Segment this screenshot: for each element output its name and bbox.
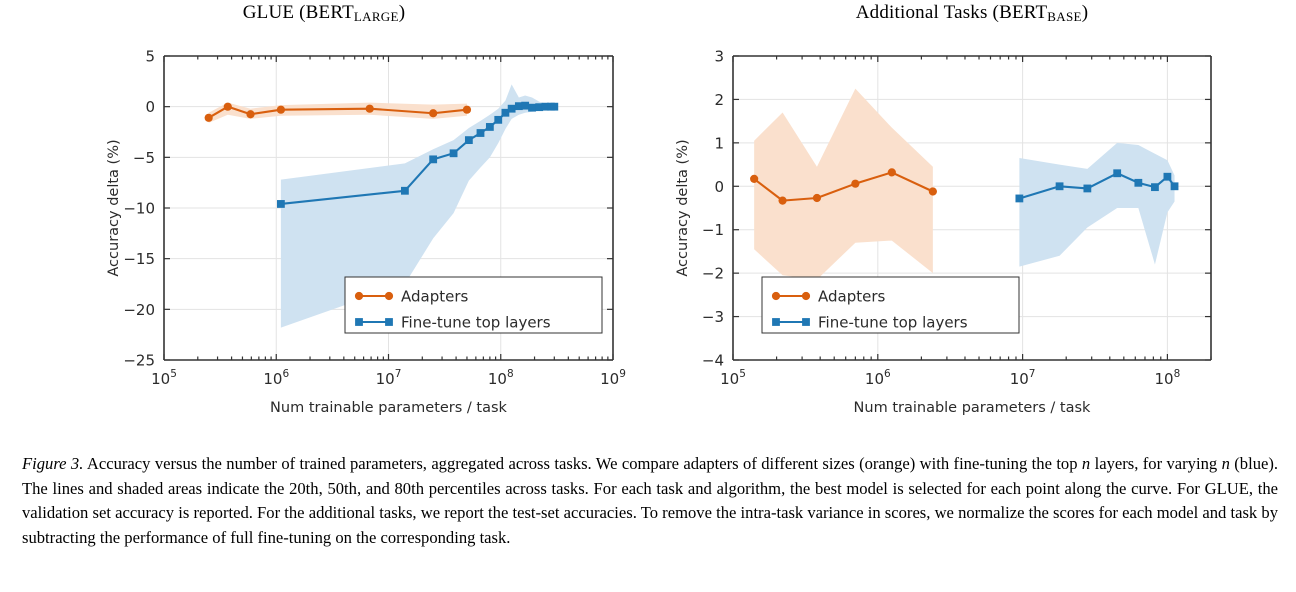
plot-area-glue: 50−5−10−15−20−25105106107108109Num train…	[0, 0, 648, 440]
x-axis-tick-label: 106	[263, 368, 289, 388]
legend-marker-square-icon	[355, 318, 363, 326]
data-point-marker	[1164, 173, 1172, 181]
legend-marker-circle-icon	[355, 292, 363, 300]
data-point-marker	[1134, 179, 1142, 187]
y-axis-tick-label: 2	[714, 91, 724, 109]
legend-marker-circle-icon	[385, 292, 393, 300]
legend-marker-square-icon	[385, 318, 393, 326]
y-axis-tick-label: −25	[123, 352, 155, 370]
y-axis-tick-label: −20	[123, 301, 155, 319]
data-point-marker	[1171, 182, 1179, 190]
chart-panel-glue: GLUE (BERTLARGE) 50−5−10−15−20−251051061…	[0, 0, 648, 440]
y-axis-tick-label: 3	[714, 48, 724, 66]
legend-label: Fine-tune top layers	[401, 314, 551, 332]
y-axis-tick-label: −4	[702, 352, 724, 370]
data-point-marker	[1015, 195, 1023, 203]
data-point-marker	[508, 105, 516, 113]
data-point-marker	[778, 197, 786, 205]
data-point-marker	[205, 114, 213, 122]
data-point-marker	[450, 149, 458, 157]
y-axis-tick-label: −3	[702, 308, 724, 326]
data-point-marker	[429, 155, 437, 163]
legend-marker-circle-icon	[802, 292, 810, 300]
data-point-marker	[277, 200, 285, 208]
figure-caption: Figure 3. Accuracy versus the number of …	[22, 452, 1278, 550]
data-point-marker	[851, 180, 859, 188]
y-axis-tick-label: 1	[714, 134, 724, 152]
data-point-marker	[1056, 182, 1064, 190]
y-axis-tick-label: −15	[123, 250, 155, 268]
y-axis-tick-label: 0	[145, 98, 155, 116]
data-point-marker	[1151, 183, 1159, 191]
legend-marker-square-icon	[772, 318, 780, 326]
legend-label: Fine-tune top layers	[818, 314, 968, 332]
y-axis-tick-label: 0	[714, 178, 724, 196]
x-axis-tick-label: 108	[1155, 368, 1181, 388]
data-point-marker	[465, 136, 473, 144]
uncertainty-band-adapters	[754, 89, 933, 280]
data-point-marker	[277, 106, 285, 114]
data-point-marker	[494, 116, 502, 124]
y-axis-title: Accuracy delta (%)	[675, 139, 691, 276]
data-point-marker	[750, 175, 758, 183]
legend-label: Adapters	[401, 288, 469, 306]
data-point-marker	[463, 106, 471, 114]
data-point-marker	[246, 110, 254, 118]
data-point-marker	[528, 104, 536, 112]
legend-marker-square-icon	[802, 318, 810, 326]
x-axis-title: Num trainable parameters / task	[270, 400, 508, 416]
data-point-marker	[550, 103, 558, 111]
y-axis-tick-label: −2	[702, 265, 724, 283]
data-point-marker	[1083, 185, 1091, 193]
data-point-marker	[929, 187, 937, 195]
plot-area-additional: 3210−1−2−3−4105106107108Num trainable pa…	[648, 0, 1296, 440]
data-point-marker	[224, 103, 232, 111]
legend-label: Adapters	[818, 288, 886, 306]
x-axis-title: Num trainable parameters / task	[854, 400, 1092, 416]
y-axis-tick-label: −1	[702, 221, 724, 239]
x-axis-tick-label: 107	[1010, 368, 1036, 388]
uncertainty-band-fine-tune-top-layers	[1019, 143, 1174, 267]
y-axis-title: Accuracy delta (%)	[106, 139, 122, 276]
data-point-marker	[521, 102, 529, 110]
figure-caption-label: Figure 3.	[22, 454, 83, 473]
data-point-marker	[401, 187, 409, 195]
y-axis-tick-label: −5	[133, 149, 155, 167]
legend-marker-circle-icon	[772, 292, 780, 300]
x-axis-tick-label: 105	[151, 368, 177, 388]
x-axis-tick-label: 106	[865, 368, 891, 388]
data-point-marker	[486, 123, 494, 131]
x-axis-tick-label: 108	[488, 368, 514, 388]
y-axis-tick-label: 5	[145, 48, 155, 66]
figure-caption-text: Accuracy versus the number of trained pa…	[22, 454, 1278, 547]
x-axis-tick-label: 105	[720, 368, 746, 388]
x-axis-tick-label: 107	[376, 368, 402, 388]
data-point-marker	[888, 168, 896, 176]
figure-3: GLUE (BERTLARGE) 50−5−10−15−20−251051061…	[0, 0, 1296, 592]
data-point-marker	[1113, 169, 1121, 177]
y-axis-tick-label: −10	[123, 200, 155, 218]
x-axis-tick-label: 109	[600, 368, 626, 388]
data-point-marker	[813, 194, 821, 202]
data-point-marker	[366, 105, 374, 113]
chart-panel-additional: Additional Tasks (BERTBASE) 3210−1−2−3−4…	[648, 0, 1296, 440]
data-point-marker	[429, 109, 437, 117]
data-point-marker	[477, 129, 485, 137]
